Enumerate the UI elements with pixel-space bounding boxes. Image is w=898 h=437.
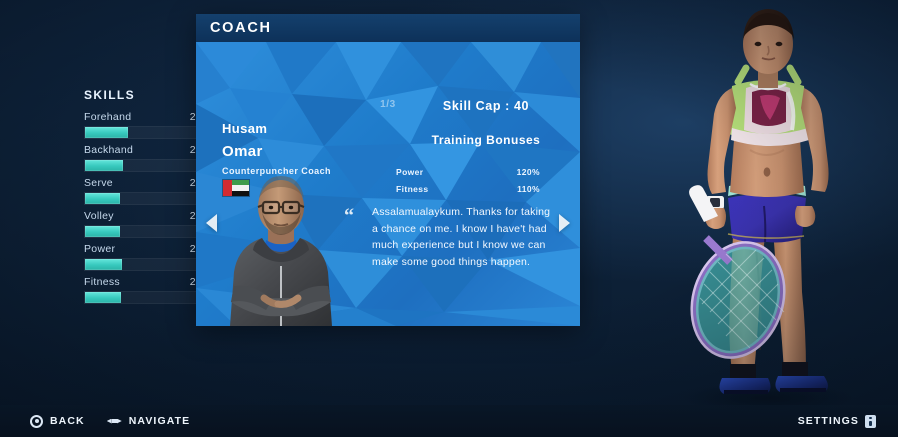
training-bonus-value: 110% [517,184,540,194]
training-bonus-row: Fitness110% [396,184,540,194]
skill-bar-fill [85,193,120,204]
quote-mark-icon: “ [344,206,354,226]
next-coach-arrow-icon[interactable] [559,214,570,232]
info-button-icon [865,415,876,428]
coach-first-name: Husam [222,121,267,136]
skill-bar-track [84,291,202,304]
coach-last-name: Omar [222,143,263,160]
coach-quote-text: Assalamualaykum. Thanks for taking a cha… [372,204,558,270]
skill-bar-fill [85,160,123,171]
settings-button-label: SETTINGS [798,415,859,427]
coach-card[interactable]: COACH [196,14,580,326]
training-bonus-label: Fitness [396,184,429,194]
skill-row: Serve22 [84,177,202,205]
skill-bar-track [84,258,202,271]
skill-bar-track [84,225,202,238]
training-bonus-row: Power120% [396,167,540,177]
skill-row: Backhand25 [84,144,202,172]
dpad-icon [107,415,122,428]
skill-row: Forehand28 [84,111,202,139]
skill-name: Backhand [84,144,133,156]
skills-title: SKILLS [84,88,202,102]
game-screen: SKILLS Forehand28Backhand25Serve22Volley… [0,0,898,437]
skill-name: Volley [84,210,114,222]
skill-bar-fill [85,292,121,303]
skill-bar-fill [85,127,128,138]
coach-card-title: COACH [210,20,272,36]
skill-name: Forehand [84,111,131,123]
skill-bar-track [84,159,202,172]
back-button-label: BACK [50,415,85,427]
previous-coach-arrow-icon[interactable] [206,214,217,232]
circle-button-icon [30,415,43,428]
training-bonus-label: Power [396,167,424,177]
training-bonuses-title: Training Bonuses [392,133,580,147]
skill-bar-fill [85,226,120,237]
skill-name: Serve [84,177,113,189]
skill-row: Fitness23 [84,276,202,304]
training-bonuses-list: Power120%Fitness110% [396,167,540,201]
skill-bar-fill [85,259,122,270]
bottom-action-bar: BACK NAVIGATE SETTINGS [0,405,898,437]
skill-row: Power24 [84,243,202,271]
skill-bar-track [84,126,202,139]
skill-name: Power [84,243,115,255]
training-bonus-value: 120% [517,167,540,177]
skill-row: Volley22 [84,210,202,238]
navigate-button-label: NAVIGATE [129,415,191,427]
coach-card-header: COACH [196,14,580,42]
coach-card-body: 1/3 Husam Omar Counterpuncher Coach Skil… [196,42,580,326]
back-button[interactable]: BACK [30,415,85,428]
navigate-button[interactable]: NAVIGATE [107,415,191,428]
skills-list: Forehand28Backhand25Serve22Volley22Power… [84,111,202,304]
skill-bar-track [84,192,202,205]
skill-name: Fitness [84,276,120,288]
skill-cap-label: Skill Cap : 40 [392,99,580,113]
settings-button[interactable]: SETTINGS [798,415,876,428]
coach-portrait [218,174,344,326]
coach-quote: “ Assalamualaykum. Thanks for taking a c… [344,204,558,270]
skills-panel: SKILLS Forehand28Backhand25Serve22Volley… [84,88,202,309]
